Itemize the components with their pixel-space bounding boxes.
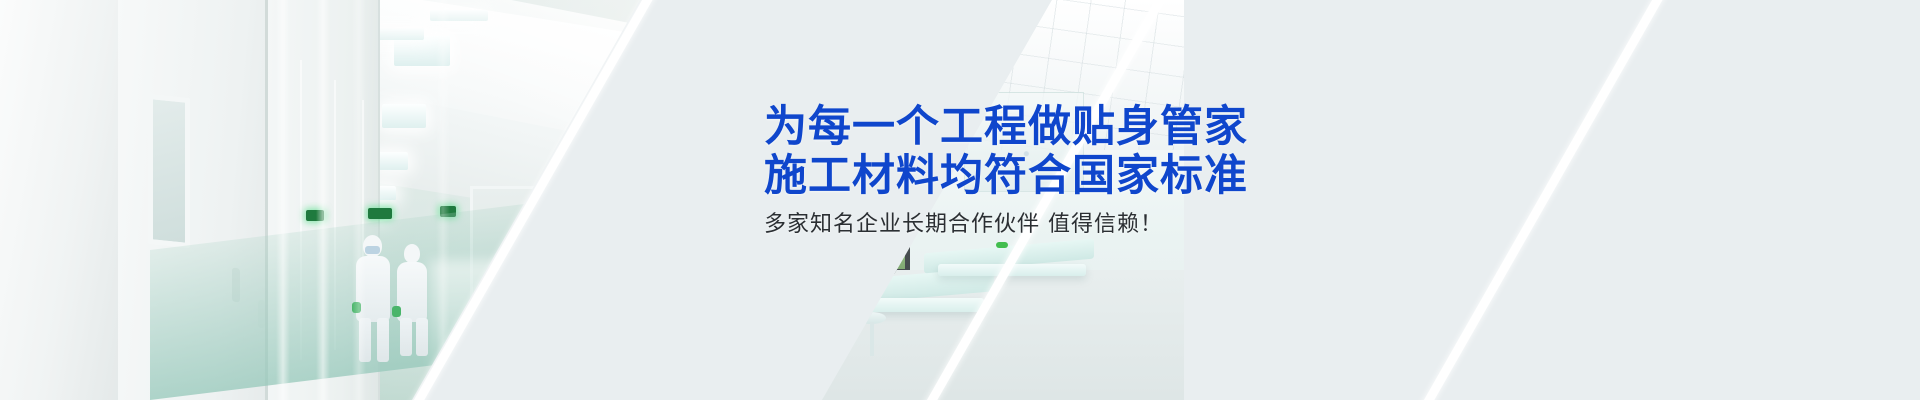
motion-streak <box>352 0 366 400</box>
blind-pattern <box>611 87 737 195</box>
lab-faucet <box>590 184 626 226</box>
corridor-door-left <box>0 0 118 400</box>
ceiling-led-panel <box>1486 170 1510 180</box>
floor-light-reflection <box>1556 230 1572 400</box>
gas-valve-icon <box>618 250 634 258</box>
cleanroom-corridor-scene <box>0 0 660 400</box>
motion-streak <box>316 0 330 400</box>
ceiling-led-panel <box>1498 149 1530 162</box>
molecule-graphic-icon <box>640 108 674 142</box>
bench-cabinet <box>546 300 694 400</box>
bench-worktop <box>660 250 820 289</box>
ceiling-led-panel <box>1220 8 1296 38</box>
worktop-edge <box>1220 201 1520 216</box>
door-vision-window <box>148 94 190 248</box>
door-operator-head <box>1530 78 1562 104</box>
lab-faucet <box>618 166 664 216</box>
wall-cabinet <box>1272 90 1334 156</box>
window-tree-view <box>803 238 905 269</box>
lab-floor <box>404 270 1184 400</box>
wall-shadow <box>1770 0 1920 400</box>
bench-worktop <box>1220 201 1520 227</box>
floor-light-reflection <box>1610 230 1626 400</box>
gas-valve-icon <box>744 252 756 258</box>
worker-hood <box>404 244 420 263</box>
hospital-corridor-scene <box>1410 0 1920 400</box>
bench-frame <box>808 298 984 312</box>
ceiling-ac-unit <box>640 28 736 72</box>
ceiling-led-panel <box>1322 94 1380 114</box>
window-blind <box>610 86 738 196</box>
hero-banner: 为每一个工程做贴身管家 施工材料均符合国家标准 多家知名企业长期合作伙伴 值得信… <box>0 0 1920 400</box>
gas-valve-icon <box>872 272 884 278</box>
banner-copy: 为每一个工程做贴身管家 施工材料均符合国家标准 多家知名企业长期合作伙伴 值得信… <box>764 104 1248 238</box>
banner-headline: 为每一个工程做贴身管家 施工材料均符合国家标准 <box>764 104 1248 199</box>
corridor-right-wall <box>1660 0 1920 400</box>
cart-leg <box>1642 234 1645 254</box>
hospital-cart <box>1638 198 1684 234</box>
cabinet-glass-door <box>1250 92 1334 158</box>
worker-mask <box>365 246 380 254</box>
corridor-baseboard <box>1470 237 1620 263</box>
gas-valve-icon <box>592 248 608 256</box>
ceiling-panel-light <box>806 0 882 24</box>
gas-valve-icon <box>996 242 1008 248</box>
faucet-column <box>608 216 613 272</box>
cabinet-mint-panel <box>504 292 546 400</box>
worker-leg <box>416 318 428 356</box>
worker-glove <box>392 306 401 317</box>
corridor-baseboard <box>1620 199 1910 254</box>
ceiling-led-panel <box>1414 83 1450 99</box>
glass-partition <box>1478 106 1528 234</box>
ceiling-panel-light <box>928 54 978 70</box>
ceiling-panel-light <box>642 112 700 128</box>
cart-leg <box>1678 234 1681 254</box>
lab-stool-seat <box>720 300 754 312</box>
bench-frame <box>678 278 808 294</box>
headline-line-1: 为每一个工程做贴身管家 <box>764 104 1248 150</box>
ac-vent-icon <box>697 43 729 61</box>
worker-leg <box>377 318 389 362</box>
ceiling-led-panel <box>1536 75 1596 98</box>
motion-streak <box>276 0 290 400</box>
floor-border-strip <box>1280 250 1387 400</box>
lab-sink <box>488 272 638 304</box>
lab-stool-leg <box>736 310 740 350</box>
wall-sign <box>1424 98 1442 140</box>
ceiling-led-panel <box>1514 121 1558 138</box>
banner-subtitle: 多家知名企业长期合作伙伴 值得信赖！ <box>764 212 1248 238</box>
door-rail <box>1542 96 1547 262</box>
lab-stool-leg <box>870 322 874 356</box>
panel-divider-3 <box>1400 0 1675 400</box>
ceiling-panel-light <box>756 74 810 92</box>
worker-leg <box>400 318 412 356</box>
ac-vent-icon <box>655 43 687 61</box>
headline-line-2: 施工材料均符合国家标准 <box>764 153 1248 199</box>
exit-sign-icon <box>368 208 392 219</box>
panel-hospital-corridor <box>1410 0 1920 400</box>
panel-cleanroom-corridor <box>0 0 660 400</box>
cabinet-kickplate <box>1232 321 1298 340</box>
bench-base-cabinet <box>1232 226 1298 340</box>
worker-coverall <box>397 262 427 322</box>
ceiling-lamp <box>382 104 426 128</box>
